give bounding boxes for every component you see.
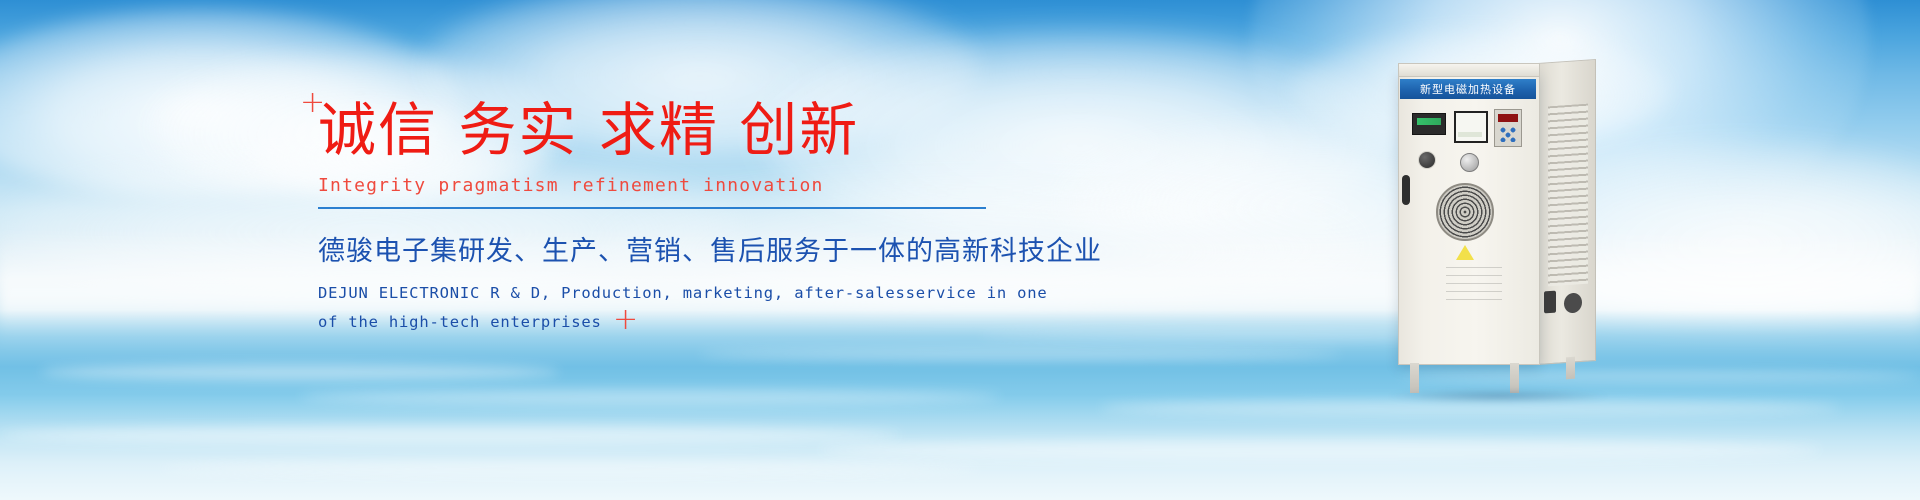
machine-top-edge [1398, 63, 1540, 77]
description-english-line-1: DEJUN ELECTRONIC R & D, Production, mark… [318, 279, 1058, 308]
machine-door-handle [1402, 175, 1410, 205]
analog-meter-icon [1454, 111, 1488, 143]
wave-streak [700, 348, 1340, 360]
banner-text-block: 诚信 务实 求精 创新 Integrity pragmatism refinem… [318, 100, 1058, 336]
description-english: DEJUN ELECTRONIC R & D, Production, mark… [318, 279, 1058, 336]
machine-foot [1566, 357, 1575, 380]
machine-shadow [1388, 389, 1608, 403]
knob-icon [1418, 151, 1436, 169]
machine-banner-label: 新型电磁加热设备 [1400, 79, 1536, 99]
fan-grille-icon [1436, 183, 1494, 241]
machine-vent-louvers [1548, 104, 1588, 287]
product-image-heating-machine: 新型电磁加热设备 [1398, 55, 1602, 395]
digital-meter-icon [1412, 113, 1446, 135]
warning-triangle-icon [1456, 245, 1474, 260]
headline-chinese: 诚信 务实 求精 创新 [318, 100, 1058, 161]
wave-streak [40, 364, 560, 380]
sea-background [0, 310, 1920, 500]
divider-rule [318, 207, 986, 209]
machine-spec-label [1446, 267, 1502, 305]
knob-icon [1460, 153, 1479, 172]
keypad-icon [1494, 109, 1522, 147]
description-english-line-2: of the high-tech enterprises [318, 308, 1058, 337]
wave-streak [160, 462, 980, 476]
headline-english: Integrity pragmatism refinement innovati… [318, 175, 1058, 196]
wave-streak [820, 440, 1820, 460]
wave-streak [0, 426, 900, 444]
machine-side-handle [1544, 291, 1556, 314]
promo-banner: + + 诚信 务实 求精 创新 Integrity pragmatism ref… [0, 0, 1920, 500]
wave-streak [300, 390, 1000, 404]
description-chinese: 德骏电子集研发、生产、营销、售后服务于一体的高新科技企业 [318, 229, 1058, 268]
